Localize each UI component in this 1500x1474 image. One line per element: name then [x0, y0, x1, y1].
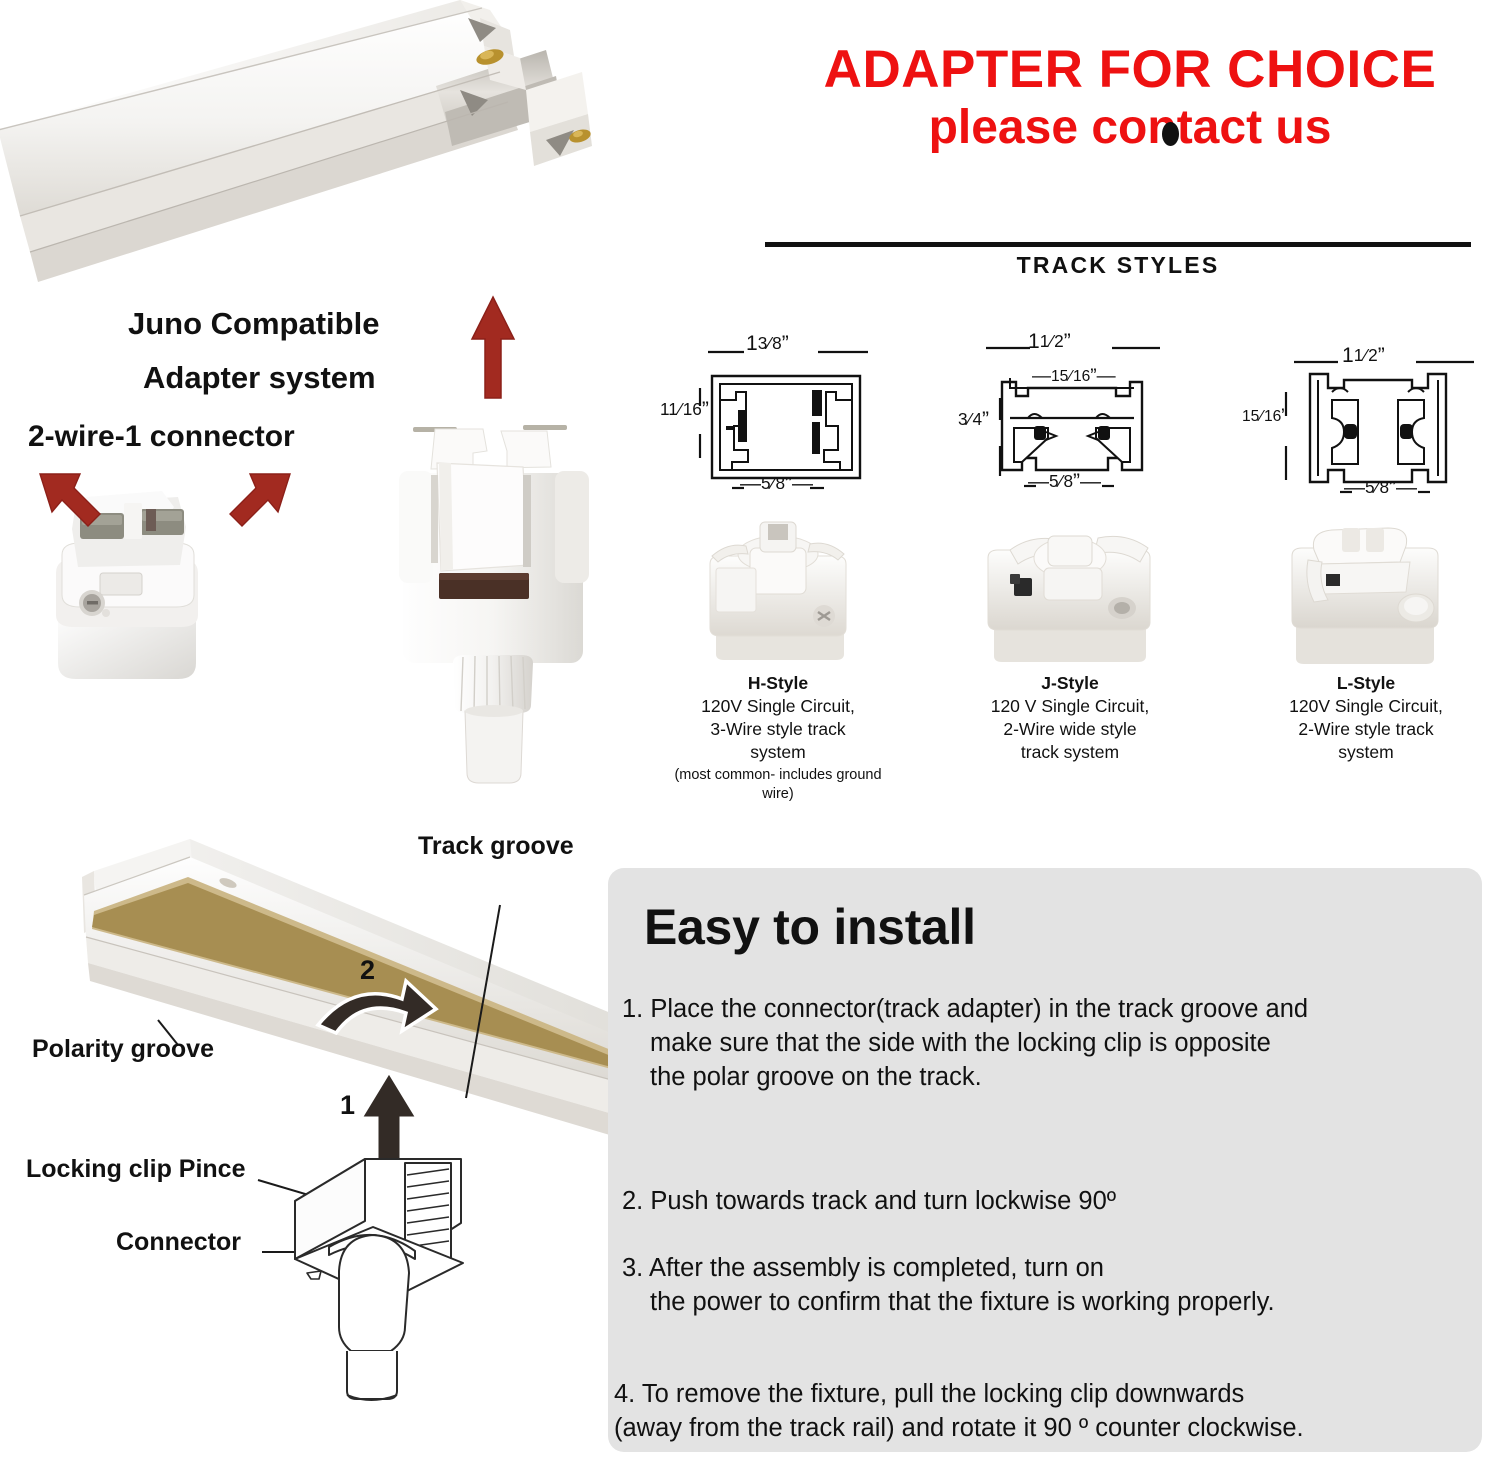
track-style-column-j: 11⁄2” —15⁄16”— 3⁄4” —5⁄8”— — [952, 330, 1188, 764]
contact-dot-marker — [1162, 122, 1179, 146]
label-polarity-groove: Polarity groove — [32, 1035, 214, 1064]
j-style-adapter-photo — [952, 516, 1188, 666]
h-style-caption: H-Style 120V Single Circuit, 3-Wire styl… — [660, 672, 896, 804]
step-3-number: 3. — [622, 1254, 643, 1282]
red-arrow-right-icon — [222, 470, 294, 539]
easy-to-install-heading: Easy to install — [644, 898, 976, 956]
install-step-3: 3. After the assembly is completed, turn… — [622, 1252, 1462, 1320]
page-subtitle-text: please contact us — [929, 101, 1332, 154]
track-styles-divider — [765, 242, 1471, 247]
h-style-adapter-photo — [660, 516, 896, 666]
j-style-caption: J-Style 120 V Single Circuit, 2-Wire wid… — [952, 672, 1188, 764]
page-title: ADAPTER FOR CHOICE — [760, 42, 1500, 98]
connector-side-view-photo — [395, 405, 625, 805]
header-title-block: ADAPTER FOR CHOICE please contact us — [760, 42, 1500, 155]
step-4-line-1: To remove the fixture, pull the locking … — [642, 1380, 1244, 1408]
connector-line-drawing — [255, 1155, 555, 1445]
l-style-caption: L-Style 120V Single Circuit, 2-Wire styl… — [1248, 672, 1484, 764]
black-rotate-arrow-icon — [310, 975, 440, 1050]
track-style-column-l: 11⁄2” 15⁄16” —5⁄8”— — [1248, 330, 1484, 764]
label-locking-clip: Locking clip Pince — [26, 1155, 246, 1184]
step-1-line-1: Place the connector(track adapter) in th… — [650, 995, 1308, 1023]
label-2-wire-connector: 2-wire-1 connector — [28, 420, 295, 454]
label-adapter-system: Adapter system — [143, 360, 376, 396]
install-step-4: 4. To remove the fixture, pull the locki… — [614, 1378, 1474, 1446]
step-2-line-1: Push towards track and turn lockwise 90º — [650, 1187, 1116, 1215]
step-4-line-2: (away from the track rail) and rotate it… — [614, 1412, 1474, 1446]
install-step-1: 1. Place the connector(track adapter) in… — [622, 993, 1462, 1095]
track-rail-photo — [0, 0, 650, 294]
install-step-number-1: 1 — [340, 1090, 355, 1121]
h-style-cross-section: 13⁄8” 11⁄16” —5⁄8”— — [660, 330, 896, 510]
page-subtitle: please contact us — [760, 102, 1500, 155]
step-4-number: 4. — [614, 1380, 635, 1408]
label-connector: Connector — [116, 1228, 241, 1257]
step-3-line-2: the power to confirm that the fixture is… — [622, 1286, 1462, 1320]
install-step-2: 2. Push towards track and turn lockwise … — [622, 1185, 1462, 1219]
step-2-number: 2. — [622, 1187, 643, 1215]
j-style-cross-section: 11⁄2” —15⁄16”— 3⁄4” —5⁄8”— — [952, 330, 1188, 510]
track-style-column-h: 13⁄8” 11⁄16” —5⁄8”— — [660, 330, 896, 804]
step-1-line-2: make sure that the side with the locking… — [622, 1027, 1462, 1061]
l-style-adapter-photo — [1248, 516, 1484, 666]
label-track-groove: Track groove — [418, 832, 574, 861]
step-3-line-1: After the assembly is completed, turn on — [649, 1254, 1104, 1282]
step-1-line-3: the polar groove on the track. — [622, 1061, 1462, 1095]
red-up-arrow-icon — [470, 295, 516, 405]
step-1-number: 1. — [622, 995, 643, 1023]
track-styles-heading: TRACK STYLES — [765, 252, 1471, 279]
label-juno-compatible: Juno Compatible — [128, 306, 379, 342]
l-style-cross-section: 11⁄2” 15⁄16” —5⁄8”— — [1248, 330, 1484, 510]
red-arrow-left-icon — [36, 470, 108, 539]
